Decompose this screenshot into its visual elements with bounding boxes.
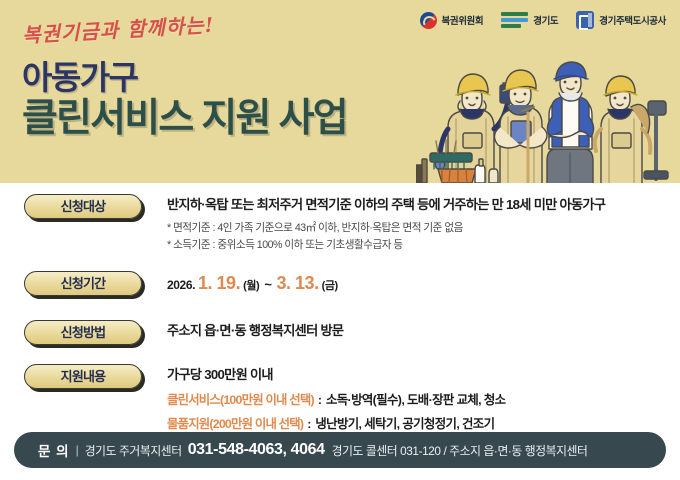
support-clean-value: 소독·방역(필수), 도배·장판 교체, 청소: [326, 390, 506, 408]
badge-target: 신청대상: [24, 194, 142, 219]
support-main-text: 가구당 300만원 이내: [167, 366, 505, 384]
contact-phone: 031-548-4063, 4064: [182, 441, 332, 459]
target-note-income: * 소득기준 : 중위소득 100% 이하 또는 기초생활수급자 등: [167, 237, 605, 254]
support-goods-key: 물품지원(200만원 이내 선택): [167, 414, 303, 432]
support-goods-colon: :: [303, 417, 315, 431]
logo-label-gyeonggi: 경기도: [533, 13, 558, 27]
contact-center-name: 경기도 주거복지센터: [85, 442, 182, 459]
period-end-day: (금): [322, 277, 338, 293]
contact-extra: 경기도 콜센터 031-120 / 주소지 읍·면·동 행정복지센터: [332, 442, 588, 459]
section-period: 신청기간 2026. 1. 19. (월) ~ 3. 13. (금): [24, 271, 338, 296]
logo-lottery-commission: 복권위원회: [420, 12, 484, 29]
badge-target-label: 신청대상: [61, 200, 106, 213]
badge-method: 신청방법: [24, 320, 142, 345]
logo-label-gh: 경기주택도시공사: [599, 13, 666, 27]
badge-support: 지원내용: [24, 364, 142, 389]
hero-banner: 복권위원회 경기도 경기주택도시공사 복권기금과 함께하는! 아동가구 클린서비…: [0, 0, 680, 183]
hero-tagline: 복권기금과 함께하는!: [21, 9, 215, 49]
support-goods-value: 냉난방기, 세탁기, 공기청정기, 건조기: [315, 414, 494, 432]
logo-gh-corporation: 경기주택도시공사: [576, 11, 666, 29]
logo-row: 복권위원회 경기도 경기주택도시공사: [420, 11, 666, 29]
section-support-content: 가구당 300만원 이내 클린서비스(100만원 이내 선택) : 소독·방역(…: [167, 364, 505, 432]
target-note-area: * 면적기준 : 4인 가족 기준으로 43㎡ 이하, 반지하·옥탑은 면적 기…: [167, 220, 605, 237]
badge-method-label: 신청방법: [61, 326, 106, 339]
section-period-content: 2026. 1. 19. (월) ~ 3. 13. (금): [167, 271, 338, 294]
hero-title-block: 아동가구 클린서비스 지원 사업: [22, 60, 347, 140]
support-item-clean: 클린서비스(100만원 이내 선택) : 소독·방역(필수), 도배·장판 교체…: [167, 390, 505, 408]
page-title-line2: 클린서비스 지원 사업: [22, 98, 347, 140]
badge-support-label: 지원내용: [61, 370, 106, 383]
period-tilde: ~: [262, 277, 273, 292]
page-title-line1: 아동가구: [22, 60, 347, 96]
period-start-date: 1. 19.: [198, 273, 240, 294]
taegeuk-icon: [420, 12, 437, 29]
period-start-day: (월): [243, 277, 259, 293]
target-main-text: 반지하·옥탑 또는 최저주거 면적기준 이하의 주택 등에 거주하는 만 18세…: [167, 196, 605, 214]
period-end-date: 3. 13.: [277, 273, 319, 294]
gh-cube-icon: [576, 11, 594, 29]
workers-illustration: [416, 41, 678, 183]
support-clean-key: 클린서비스(100만원 이내 선택): [167, 390, 314, 408]
section-support: 지원내용 가구당 300만원 이내 클린서비스(100만원 이내 선택) : 소…: [24, 364, 505, 432]
section-target: 신청대상 반지하·옥탑 또는 최저주거 면적기준 이하의 주택 등에 거주하는 …: [24, 194, 605, 255]
support-clean-colon: :: [314, 393, 326, 407]
badge-period-label: 신청기간: [61, 277, 106, 290]
target-notes: * 면적기준 : 4인 가족 기준으로 43㎡ 이하, 반지하·옥탑은 면적 기…: [167, 220, 605, 255]
contact-bar: 문 의 | 경기도 주거복지센터 031-548-4063, 4064 경기도 …: [14, 432, 666, 468]
period-year: 2026.: [167, 278, 195, 292]
section-method: 신청방법 주소지 읍·면·동 행정복지센터 방문: [24, 320, 343, 345]
logo-gyeonggi-do: 경기도: [501, 12, 558, 28]
support-item-goods: 물품지원(200만원 이내 선택) : 냉난방기, 세탁기, 공기청정기, 건조…: [167, 414, 505, 432]
section-target-content: 반지하·옥탑 또는 최저주거 면적기준 이하의 주택 등에 거주하는 만 18세…: [167, 194, 605, 255]
contact-label: 문 의: [38, 440, 70, 460]
method-main-text: 주소지 읍·면·동 행정복지센터 방문: [167, 322, 343, 340]
poster-root: 복권위원회 경기도 경기주택도시공사 복권기금과 함께하는! 아동가구 클린서비…: [0, 0, 680, 480]
gyeonggi-bars-icon: [501, 12, 528, 28]
section-method-content: 주소지 읍·면·동 행정복지센터 방문: [167, 320, 343, 340]
contact-separator: |: [70, 443, 85, 457]
logo-label-lottery: 복권위원회: [442, 13, 484, 27]
content-area: 신청대상 반지하·옥탑 또는 최저주거 면적기준 이하의 주택 등에 거주하는 …: [0, 183, 680, 438]
period-date-line: 2026. 1. 19. (월) ~ 3. 13. (금): [167, 273, 338, 294]
badge-period: 신청기간: [24, 271, 142, 296]
